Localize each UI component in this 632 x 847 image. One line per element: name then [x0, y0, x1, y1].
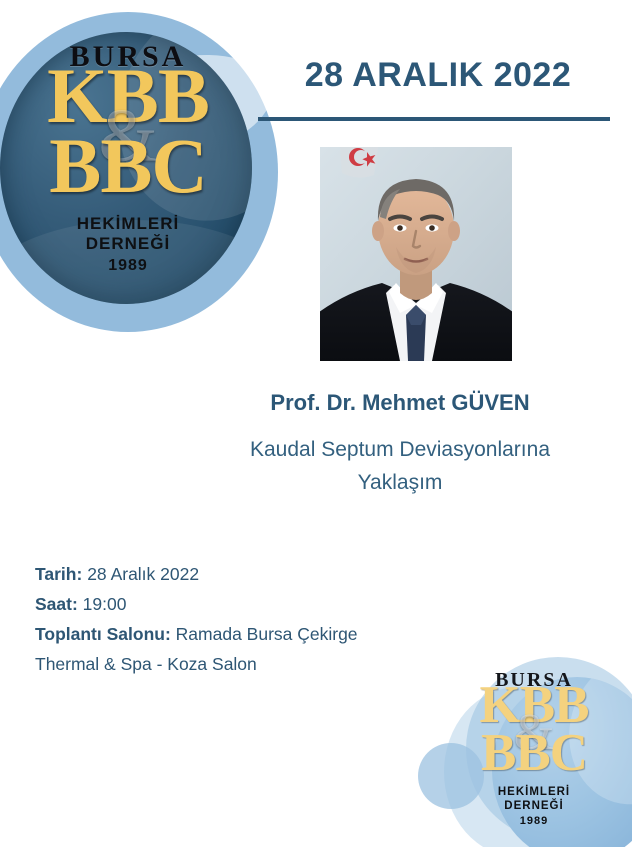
speaker-topic-line-1: Kaudal Septum Deviasyonlarına	[152, 434, 632, 467]
speaker-portrait-illustration	[320, 147, 512, 361]
detail-row-date: Tarih: 28 Aralık 2022	[35, 559, 515, 589]
association-logo-primary: BURSA KBB & BBC HEKİMLERİ DERNEĞİ 1989	[0, 12, 278, 337]
detail-value-venue-line-1: Ramada Bursa Çekirge	[176, 624, 358, 644]
speaker-name: Prof. Dr. Mehmet GÜVEN	[152, 390, 632, 416]
logo-word-bbc: BBC	[0, 130, 278, 202]
watermark-subtitle-year: 1989	[410, 815, 632, 827]
detail-label-time: Saat:	[35, 594, 78, 614]
speaker-photo	[320, 147, 512, 361]
page-title: 28 ARALIK 2022	[258, 56, 618, 95]
detail-row-time: Saat: 19:00	[35, 589, 515, 619]
detail-value-date: 28 Aralık 2022	[87, 564, 199, 584]
detail-row-venue: Toplantı Salonu: Ramada Bursa Çekirge	[35, 619, 515, 649]
logo-subtitle-year: 1989	[0, 257, 278, 275]
speaker-topic: Kaudal Septum Deviasyonlarına Yaklaşım	[152, 434, 632, 499]
detail-label-venue: Toplantı Salonu:	[35, 624, 171, 644]
watermark-subtitle-hekimleri: HEKİMLERİ	[410, 786, 632, 798]
title-divider	[258, 117, 610, 121]
detail-value-venue-line-2: Thermal & Spa - Koza Salon	[35, 654, 257, 674]
detail-value-time: 19:00	[83, 594, 127, 614]
speaker-topic-line-2: Yaklaşım	[152, 467, 632, 500]
association-logo-watermark: BURSA KBB & BBC HEKİMLERİ DERNEĞİ 1989	[410, 651, 632, 847]
logo-subtitle-dernegi: DERNEĞİ	[0, 234, 278, 254]
logo-subtitle-hekimleri: HEKİMLERİ	[0, 214, 278, 234]
event-poster: BURSA KBB & BBC HEKİMLERİ DERNEĞİ 1989 2…	[0, 0, 632, 847]
detail-label-date: Tarih:	[35, 564, 82, 584]
watermark-subtitle-dernegi: DERNEĞİ	[410, 800, 632, 812]
watermark-word-bbc: BBC	[410, 729, 632, 778]
